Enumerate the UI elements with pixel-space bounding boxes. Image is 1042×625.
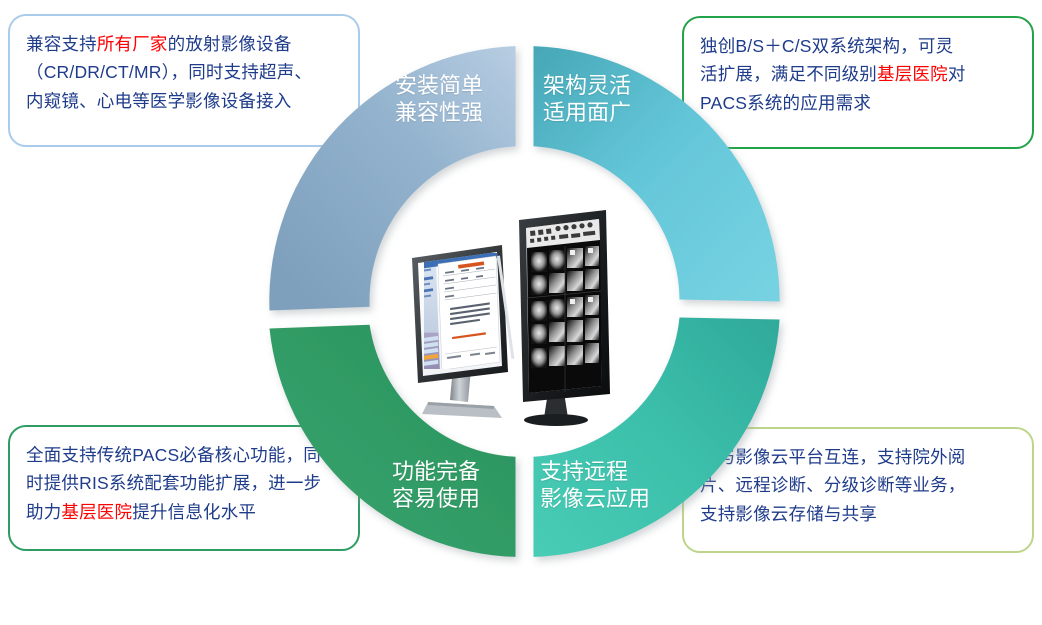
- text-segment: 的放射影像设备: [168, 34, 292, 54]
- report-monitor: [412, 245, 514, 418]
- text-segment: 提升信息化水平: [132, 502, 256, 522]
- center-illustration-monitors: [398, 196, 658, 436]
- text-highlight: 基层医院: [877, 64, 948, 84]
- text-highlight: 基层医院: [61, 502, 132, 522]
- text-segment: 兼容支持: [26, 34, 97, 54]
- callout-bottom-right-line2: 片、远程诊断、分级诊断等业务，: [700, 471, 1016, 499]
- quadrant-label-top-left: 安装简单 兼容性强: [395, 73, 483, 127]
- callout-top-left-line3: 内窥镜、心电等医学影像设备接入: [26, 87, 342, 115]
- callout-top-left-line2: （CR/DR/CT/MR），同时支持超声、: [26, 58, 342, 86]
- label-line-2: 影像云应用: [540, 486, 650, 513]
- callout-bottom-left: 全面支持传统PACS必备核心功能，同 时提供RIS系统配套功能扩展，进一步 助力…: [8, 425, 360, 551]
- label-line-1: 架构灵活: [543, 73, 631, 100]
- label-line-1: 支持远程: [540, 459, 650, 486]
- label-line-2: 兼容性强: [395, 100, 483, 127]
- callout-bottom-left-line2: 时提供RIS系统配套功能扩展，进一步: [26, 469, 342, 497]
- quadrant-label-bottom-right: 支持远程 影像云应用: [540, 459, 650, 513]
- text-segment: 活扩展，满足不同级别: [700, 64, 877, 84]
- text-highlight: 所有厂家: [97, 34, 168, 54]
- callout-bottom-left-line3: 助力基层医院提升信息化水平: [26, 498, 342, 526]
- text-segment: 助力: [26, 502, 61, 522]
- label-line-2: 适用面广: [543, 100, 631, 127]
- quadrant-label-bottom-left: 功能完备 容易使用: [392, 459, 480, 513]
- callout-top-right-line3: PACS系统的应用需求: [700, 89, 1016, 117]
- callout-bottom-right: 可与影像云平台互连，支持院外阅 片、远程诊断、分级诊断等业务， 支持影像云存储与…: [682, 427, 1034, 553]
- label-line-2: 容易使用: [392, 486, 480, 513]
- callout-bottom-left-line1: 全面支持传统PACS必备核心功能，同: [26, 441, 342, 469]
- callout-top-right-line1: 独创B/S＋C/S双系统架构，可灵: [700, 32, 1016, 60]
- callout-bottom-right-line1: 可与影像云平台互连，支持院外阅: [700, 443, 1016, 471]
- callout-top-right-line2: 活扩展，满足不同级别基层医院对: [700, 60, 1016, 88]
- callout-top-left-line1: 兼容支持所有厂家的放射影像设备: [26, 30, 342, 58]
- callout-top-left: 兼容支持所有厂家的放射影像设备 （CR/DR/CT/MR），同时支持超声、 内窥…: [8, 14, 360, 147]
- label-line-1: 功能完备: [392, 459, 480, 486]
- diagnostic-monitor: [519, 210, 610, 426]
- diagram-canvas: 兼容支持所有厂家的放射影像设备 （CR/DR/CT/MR），同时支持超声、 内窥…: [0, 0, 1042, 625]
- label-line-1: 安装简单: [395, 73, 483, 100]
- text-segment: 对: [948, 64, 966, 84]
- callout-top-right: 独创B/S＋C/S双系统架构，可灵 活扩展，满足不同级别基层医院对 PACS系统…: [682, 16, 1034, 149]
- quadrant-label-top-right: 架构灵活 适用面广: [543, 73, 631, 127]
- callout-bottom-right-line3: 支持影像云存储与共享: [700, 500, 1016, 528]
